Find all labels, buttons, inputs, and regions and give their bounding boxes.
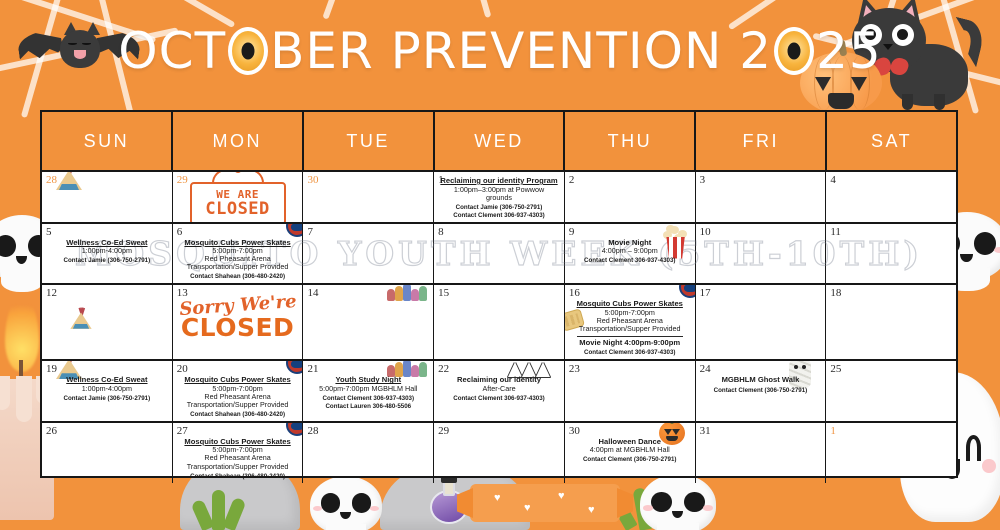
calendar-event[interactable]: Movie Night4:00pm – 9:00pmContact Clemen… [569,239,691,266]
title-part-1: OCT [118,22,226,80]
calendar-day-cell[interactable]: 2 [565,172,696,222]
title-part-3: 25 [816,22,882,80]
event-contact: Contact Lauren 306-480-5506 [307,404,429,411]
weekday-mon: MON [173,112,304,170]
calendar-day-cell[interactable]: 25 [826,361,956,421]
day-number: 7 [307,227,429,238]
page-title: OCT BER PREVENTION 2 25 [0,18,1000,84]
calendar-header-row: SUN MON TUE WED THU FRI SAT [42,112,956,170]
event-contact: Contact Jamie (306-750-2791) [46,258,168,265]
calendar-day-cell[interactable]: 28 [42,172,173,222]
day-number: 20 [177,364,299,375]
calendar-day-cell[interactable]: 17 [696,285,827,359]
calendar-day-cell[interactable]: 22Reclaiming our identityAfter-CareConta… [434,361,565,421]
day-number: 2 [569,175,691,186]
sorry-were-closed-sign: Sorry We'reCLOSED [173,297,303,341]
calendar-day-cell[interactable]: 9Movie Night4:00pm – 9:00pmContact Cleme… [565,224,696,284]
event-detail: 4:00pm – 9:00pm [569,247,691,255]
we-are-closed-sign: WE ARECLOSED [190,182,286,222]
day-number: 29 [438,426,560,437]
event-detail: Transportation/Supper Provided [569,325,691,333]
calendar-day-cell[interactable]: 6Mosquito Cubs Power Skates5:00pm-7:00pm… [173,224,304,284]
calendar-day-cell[interactable]: 8 [434,224,565,284]
teepee-icon [56,172,82,190]
calendar-day-cell[interactable]: 31 [696,423,827,483]
weekday-fri: FRI [696,112,827,170]
event-contact: Contact Clement (306-750-2791) [700,388,822,395]
calendar-event[interactable]: Movie Night 4:00pm-9:00pmContact Clement… [569,336,691,357]
event-contact: Contact Clement 306-937-4303) [307,396,429,403]
calendar-event[interactable]: Mosquito Cubs Power Skates5:00pm-7:00pmR… [569,300,691,333]
weekday-thu: THU [565,112,696,170]
day-number: 30 [307,175,429,186]
calendar-event[interactable]: Mosquito Cubs Power Skates5:00pm-7:00pmR… [177,376,299,419]
event-contact: Contact Clement 306-937-4303) [438,213,560,220]
day-number: 26 [46,426,168,437]
event-contact: Contact Clement 306-937-4303) [569,258,691,265]
calendar-event[interactable]: MGBHLM Ghost WalkContact Clement (306-75… [700,376,822,394]
weekday-wed: WED [435,112,566,170]
calendar-day-cell[interactable]: 28 [303,423,434,483]
calendar-day-cell[interactable]: 18 [826,285,956,359]
calendar-week-row: 1213Sorry We'reCLOSED141516Mosquito Cubs… [42,283,956,359]
potion-bottle-icon [430,478,468,524]
day-number: 5 [46,227,168,238]
calendar-event[interactable]: Wellness Co-Ed Sweat1:00pm-4:00pmContact… [46,376,168,403]
day-number: 3 [700,175,822,186]
calendar-day-cell[interactable]: 23 [565,361,696,421]
calendar-week-row: 2829WE ARECLOSED301🍎💞🎵Reclaiming our ide… [42,170,956,222]
weekday-sun: SUN [42,112,173,170]
calendar-day-cell[interactable]: 5Wellness Co-Ed Sweat1:00pm-4:00pmContac… [42,224,173,284]
calendar-day-cell[interactable]: 27Mosquito Cubs Power Skates5:00pm-7:00p… [173,423,304,483]
calendar-day-cell[interactable]: 3 [696,172,827,222]
calendar-day-cell[interactable]: 29 [434,423,565,483]
event-detail: 5:00pm-7:00pm MGBHLM Hall [307,385,429,393]
calendar-event[interactable]: Reclaiming our identity Program1:00pm–3:… [438,177,560,220]
event-contact: Contact Clement (306-750-2791) [569,457,691,464]
event-detail: grounds [438,194,560,202]
day-number: 12 [46,288,168,299]
calendar-day-cell[interactable]: 20Mosquito Cubs Power Skates5:00pm-7:00p… [173,361,304,421]
calendar-day-cell[interactable]: 26 [42,423,173,483]
day-number: 28 [307,426,429,437]
event-divider [577,336,683,337]
calendar-week-row: 2627Mosquito Cubs Power Skates5:00pm-7:0… [42,421,956,483]
day-number: 1 [830,426,952,437]
plant-icon [196,486,256,530]
day-number: 16 [569,288,691,299]
calendar-day-cell[interactable]: 1 [826,423,956,483]
day-number: 11 [830,227,952,238]
day-number: 6 [177,227,299,238]
day-number: 17 [700,288,822,299]
calendar-day-cell[interactable]: 21Youth Study Night5:00pm-7:00pm MGBHLM … [303,361,434,421]
event-detail: Transportation/Supper Provided [177,401,299,409]
calendar-week-row: 19Wellness Co-Ed Sweat1:00pm-4:00pmConta… [42,359,956,421]
calendar-day-cell[interactable]: 7 [303,224,434,284]
calendar-day-cell[interactable]: 30 [303,172,434,222]
event-contact: Contact Shahean (306-480-2420) [177,412,299,419]
event-contact: Contact Shahean (306-480-2420) [177,474,299,481]
day-number: 25 [830,364,952,375]
event-detail: 1:00pm-4:00pm [46,247,168,255]
event-detail: After-Care [438,385,560,393]
people-icon [387,285,427,301]
event-title: MGBHLM Ghost Walk [700,376,822,385]
plant-icon [618,484,708,530]
day-number: 4 [830,175,952,186]
skull-icon [310,476,382,530]
calendar-event[interactable]: Mosquito Cubs Power Skates5:00pm-7:00pmR… [177,239,299,282]
meditation-icon: 🍎💞🎵 [477,172,521,174]
day-number: 23 [569,364,691,375]
candy-icon: ♥ ♥ ♥ ♥ [470,484,620,522]
eyeball-icon [774,27,814,75]
event-detail: Transportation/Supper Provided [177,263,299,271]
event-contact: Contact Clement 306-937-4303) [569,350,691,357]
day-number: 10 [700,227,822,238]
day-number: 8 [438,227,560,238]
calendar-event[interactable]: Halloween Dance4:00pm at MGBHLM HallCont… [569,438,691,465]
calendar-day-cell[interactable]: 14 [303,285,434,359]
title-part-2: BER PREVENTION 2 [270,22,772,80]
calendar: SUN MON TUE WED THU FRI SAT 2829WE ARECL… [40,110,958,478]
event-contact: Contact Shahean (306-480-2420) [177,274,299,281]
calendar-event[interactable]: Mosquito Cubs Power Skates5:00pm-7:00pmR… [177,438,299,481]
event-contact: Contact Clement 306-937-4303) [438,396,560,403]
weekday-sat: SAT [827,112,956,170]
calendar-day-cell[interactable]: 15 [434,285,565,359]
calendar-day-cell[interactable]: 19Wellness Co-Ed Sweat1:00pm-4:00pmConta… [42,361,173,421]
calendar-day-cell[interactable]: 11 [826,224,956,284]
calendar-body: 2829WE ARECLOSED301🍎💞🎵Reclaiming our ide… [42,170,956,483]
event-detail: Transportation/Supper Provided [177,463,299,471]
calendar-event[interactable]: Youth Study Night5:00pm-7:00pm MGBHLM Ha… [307,376,429,410]
calendar-day-cell[interactable]: 30Halloween Dance4:00pm at MGBHLM HallCo… [565,423,696,483]
calendar-day-cell[interactable]: 12 [42,285,173,359]
event-detail: 4:00pm at MGBHLM Hall [569,446,691,454]
event-detail: 1:00pm-4:00pm [46,385,168,393]
calendar-event[interactable]: Wellness Co-Ed Sweat1:00pm-4:00pmContact… [46,239,168,266]
calendar-event[interactable]: Reclaiming our identityAfter-CareContact… [438,376,560,403]
calendar-day-cell[interactable]: 4 [826,172,956,222]
day-number: 31 [700,426,822,437]
weekday-tue: TUE [304,112,435,170]
event-contact: Contact Jamie (306-750-2791) [438,205,560,212]
calendar-week-row: MOSQUITO YOUTH WEEK (5TH-10TH)5Wellness … [42,222,956,284]
calendar-day-cell[interactable]: 24MGBHLM Ghost WalkContact Clement (306-… [696,361,827,421]
calendar-day-cell[interactable]: 10 [696,224,827,284]
calendar-day-cell[interactable]: 13Sorry We'reCLOSED [173,285,304,359]
event-contact: Contact Jamie (306-750-2791) [46,396,168,403]
day-number: 27 [177,426,299,437]
calendar-day-cell[interactable]: 16Mosquito Cubs Power Skates5:00pm-7:00p… [565,285,696,359]
calendar-day-cell[interactable]: 1🍎💞🎵Reclaiming our identity Program1:00p… [434,172,565,222]
calendar-day-cell[interactable]: 29WE ARECLOSED [173,172,304,222]
event-title: Movie Night 4:00pm-9:00pm [569,339,691,348]
teepee-icon-small [70,309,91,329]
day-number: 18 [830,288,952,299]
day-number: 15 [438,288,560,299]
eyeball-icon [228,27,268,75]
